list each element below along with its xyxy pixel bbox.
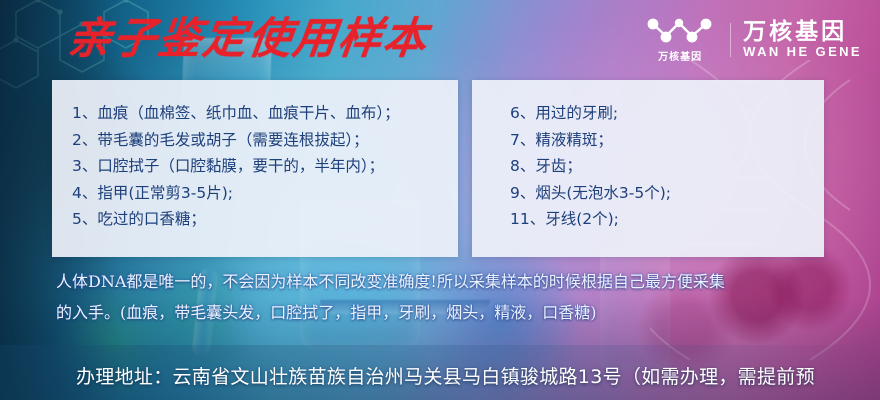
note-line-1: 人体DNA都是唯一的，不会因为样本不同改变准确度!所以采集样本的时候根据自己最方… — [56, 272, 725, 291]
list-item: 11、牙线(2个); — [510, 206, 824, 233]
address-text: 办理地址：云南省文山壮族苗族自治州马关县马白镇骏城路13号（如需办理，需提前预 — [76, 362, 815, 392]
banner-root: 亲子鉴定使用样本 万核基因 — [0, 0, 880, 400]
sample-panels: 1、血痕（血棉签、纸巾血、血痕干片、血布）； 2、带毛囊的毛发或胡子（需要连根拔… — [52, 80, 824, 257]
sample-panel-right: 6、用过的牙刷; 7、精液精斑； 8、牙齿； 9、烟头(无泡水3-5个); 11… — [472, 80, 824, 257]
sample-list-left: 1、血痕（血棉签、纸巾血、血痕干片、血布）； 2、带毛囊的毛发或胡子（需要连根拔… — [52, 80, 458, 233]
list-item: 8、牙齿； — [510, 153, 824, 180]
list-item: 7、精液精斑； — [510, 127, 824, 154]
sample-panel-left: 1、血痕（血棉签、纸巾血、血痕干片、血布）； 2、带毛囊的毛发或胡子（需要连根拔… — [52, 80, 458, 257]
brand-logo[interactable]: 万核基因 万核基因 WAN HE GENE — [644, 16, 862, 63]
brand-text: 万核基因 WAN HE GENE — [743, 20, 862, 59]
sample-list-right: 6、用过的牙刷; 7、精液精斑； 8、牙齿； 9、烟头(无泡水3-5个); 11… — [472, 80, 824, 233]
list-item: 9、烟头(无泡水3-5个); — [510, 180, 824, 207]
page-title: 亲子鉴定使用样本 — [65, 18, 430, 61]
molecule-nodes-icon — [644, 16, 716, 46]
list-item: 6、用过的牙刷; — [510, 100, 824, 127]
brand-name-en: WAN HE GENE — [743, 45, 862, 59]
note-paragraph: 人体DNA都是唯一的，不会因为样本不同改变准确度!所以采集样本的时候根据自己最方… — [56, 266, 856, 328]
list-item: 4、指甲(正常剪3-5片); — [72, 180, 458, 207]
list-item: 1、血痕（血棉签、纸巾血、血痕干片、血布）； — [72, 100, 458, 127]
brand-mark-caption: 万核基因 — [658, 48, 702, 63]
brand-name-cn: 万核基因 — [743, 20, 862, 44]
note-line-2: 的入手。(血痕，带毛囊头发，口腔拭了，指甲，牙刷，烟头，精液，口香糖) — [56, 297, 856, 328]
list-item: 5、吃过的口香糖； — [72, 206, 458, 233]
list-item: 2、带毛囊的毛发或胡子（需要连根拔起）； — [72, 127, 458, 154]
brand-divider — [730, 23, 731, 57]
list-item: 3、口腔拭子（口腔黏膜，要干的，半年内）； — [72, 153, 458, 180]
brand-mark: 万核基因 — [644, 16, 718, 63]
